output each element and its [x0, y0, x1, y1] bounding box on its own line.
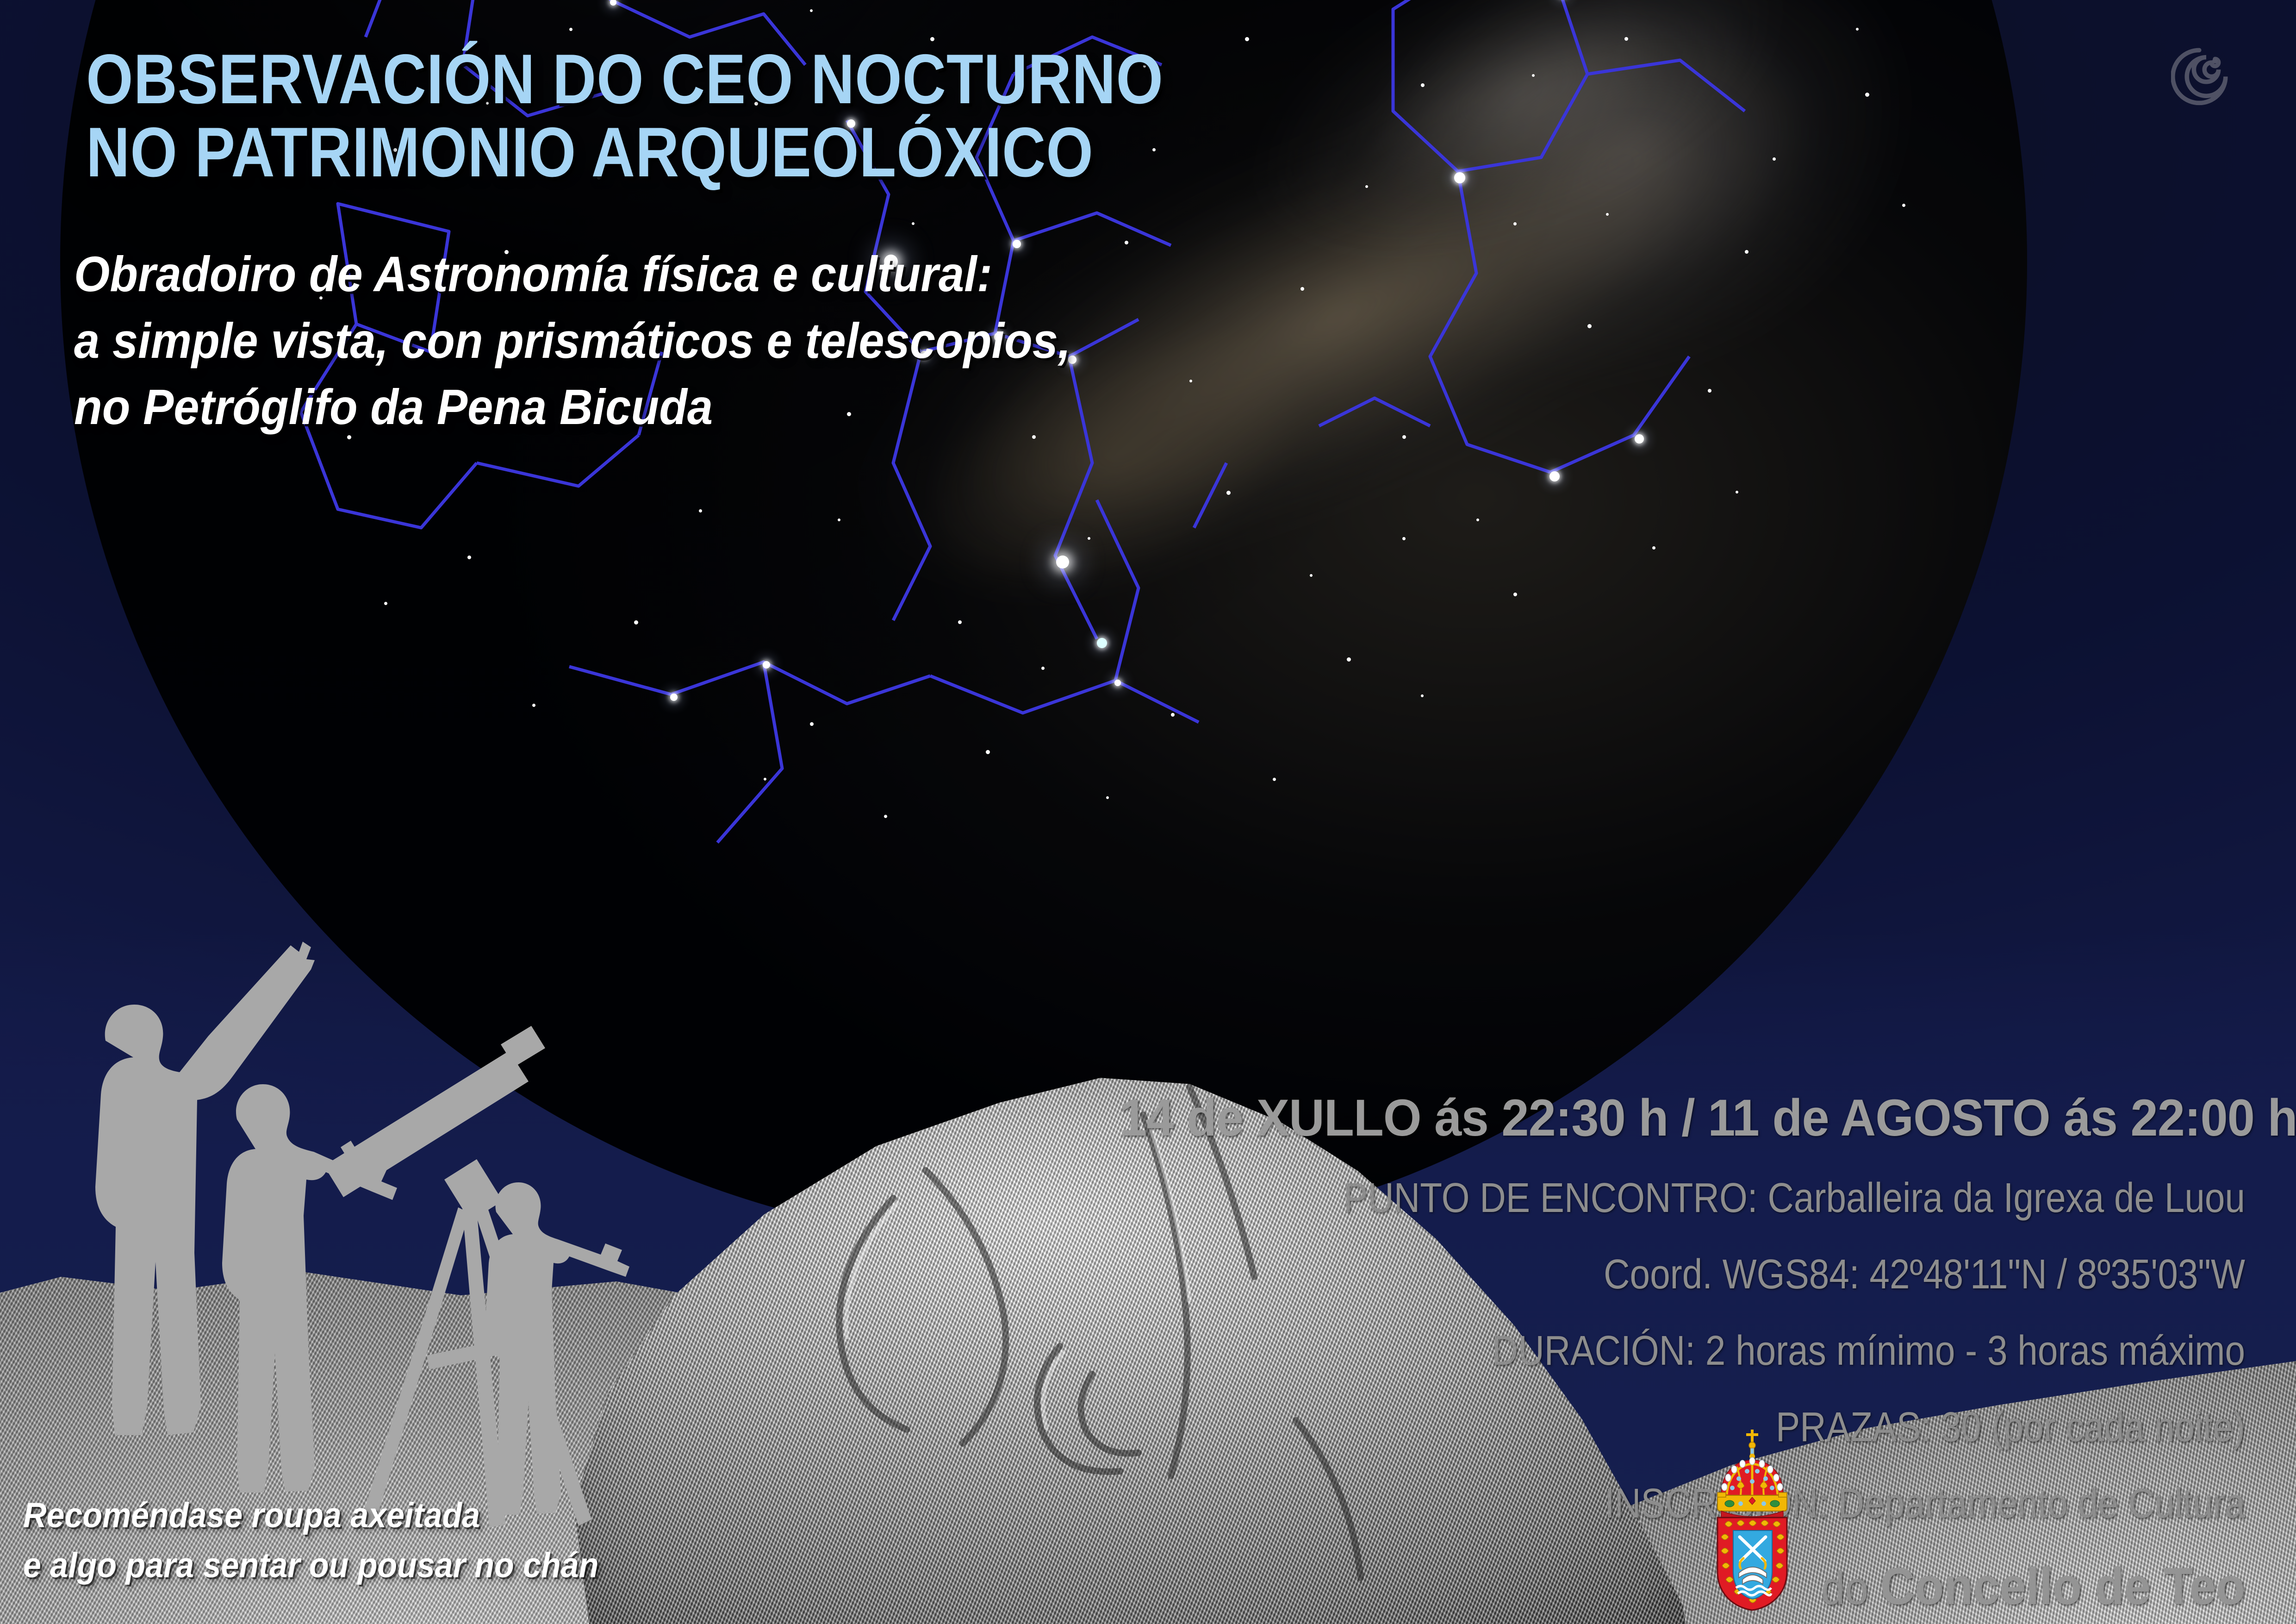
coordinates: Coord. WGS84: 42º48'11"N / 8º35'03"W — [1214, 1251, 2245, 1299]
coat-of-arms-icon — [1685, 1427, 1819, 1612]
council-prefix: do — [1821, 1562, 1880, 1614]
spiral-petroglyph-icon — [2171, 19, 2259, 106]
event-dates: 14 de XULLO ás 22:30 h / 11 de AGOSTO ás… — [1120, 1088, 2245, 1148]
observer-silhouettes — [28, 934, 657, 1550]
event-details: 14 de XULLO ás 22:30 h / 11 de AGOSTO ás… — [1060, 1088, 2245, 1624]
clothing-recommendation: Recoméndase roupa axeitada e algo para s… — [23, 1491, 598, 1591]
page-title: OBSERVACIÓN DO CEO NOCTURNO NO PATRIMONI… — [86, 43, 1164, 189]
child-silhouette — [485, 1182, 629, 1515]
page-subtitle: Obradoiro de Astronomía física e cultura… — [74, 241, 1071, 440]
poster-root: OBSERVACIÓN DO CEO NOCTURNO NO PATRIMONI… — [0, 0, 2296, 1624]
duration: DURACIÓN: 2 horas mínimo - 3 horas máxim… — [1214, 1327, 2245, 1375]
council-name: Concello de Teo — [1880, 1557, 2245, 1615]
meeting-point: PUNTO DE ENCONTRO: Carballeira da Igrexa… — [1214, 1174, 2245, 1222]
